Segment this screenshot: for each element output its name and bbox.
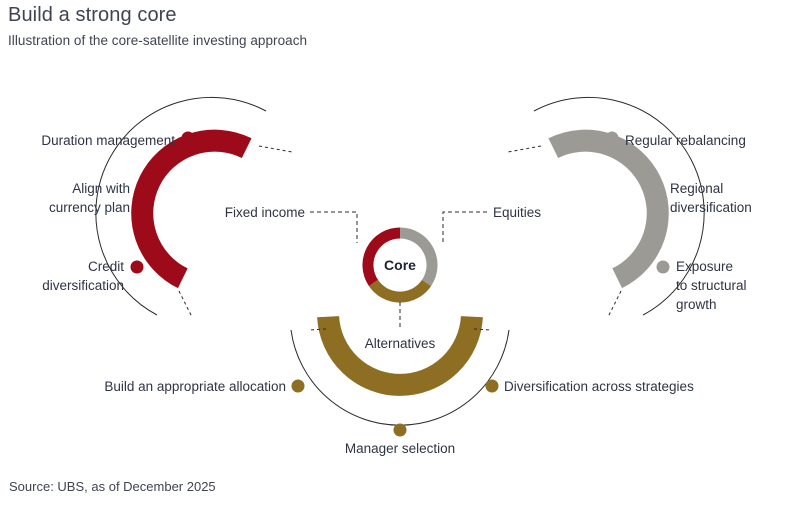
satellite-dot-diversification-strategies[interactable] bbox=[486, 380, 499, 393]
satellite-arc-dash-top-fi bbox=[259, 146, 292, 152]
satellite-label-align-currency-2: currency plan bbox=[49, 200, 130, 215]
connector-equities-line bbox=[443, 212, 487, 243]
satellite-label-regular-rebalancing: Regular rebalancing bbox=[625, 133, 746, 148]
satellite-label-regional-diversification-2: diversification bbox=[670, 200, 752, 215]
satellite-dot-regular-rebalancing[interactable] bbox=[606, 132, 619, 145]
connector-label-fixed-income: Fixed income bbox=[225, 205, 305, 220]
satellite-arc-dash-bottom-eq bbox=[608, 291, 621, 317]
core-donut: Core bbox=[368, 233, 432, 297]
satellite-dot-align-currency[interactable] bbox=[137, 183, 150, 196]
connector-label-alternatives: Alternatives bbox=[365, 336, 436, 351]
satellite-label-exposure-3: growth bbox=[676, 297, 717, 312]
satellite-dot-build-allocation[interactable] bbox=[292, 380, 305, 393]
satellite-dot-regional-diversification[interactable] bbox=[651, 183, 664, 196]
core-segment-alternatives bbox=[374, 283, 427, 297]
source-note: Source: UBS, as of December 2025 bbox=[9, 479, 216, 494]
connector-fixed-income-line bbox=[310, 212, 357, 243]
satellite-dot-manager-selection[interactable] bbox=[394, 424, 407, 437]
satellite-dot-duration-management[interactable] bbox=[182, 132, 195, 145]
satellite-label-manager-selection: Manager selection bbox=[345, 441, 455, 456]
satellite-dot-credit-diversification[interactable] bbox=[131, 261, 144, 274]
satellite-arc-dash-bottom-fi bbox=[179, 291, 192, 317]
connector-label-equities: Equities bbox=[493, 205, 541, 220]
satellite-label-exposure-1: Exposure bbox=[676, 259, 733, 274]
satellite-group-equities: Regular rebalancing Regional diversifica… bbox=[508, 97, 752, 317]
satellite-label-duration-management: Duration management bbox=[41, 133, 175, 148]
satellite-arc-dash-top-eq bbox=[508, 146, 541, 152]
satellite-label-regional-diversification-1: Regional bbox=[670, 181, 723, 196]
satellite-label-credit-diversification-1: Credit bbox=[88, 259, 124, 274]
satellite-label-align-currency-1: Align with bbox=[72, 181, 130, 196]
satellite-label-credit-diversification-2: diversification bbox=[42, 278, 124, 293]
core-satellite-diagram: Core Fixed income Equities Alternatives bbox=[0, 0, 789, 527]
satellite-label-build-allocation: Build an appropriate allocation bbox=[104, 379, 286, 394]
core-label: Core bbox=[384, 257, 416, 273]
connector-lines: Fixed income Equities Alternatives bbox=[225, 205, 542, 351]
satellite-label-exposure-2: to structural bbox=[676, 278, 747, 293]
satellite-dot-exposure-structural-growth[interactable] bbox=[657, 261, 670, 274]
satellite-arc-equities bbox=[553, 141, 657, 279]
satellite-label-diversification-strategies: Diversification across strategies bbox=[504, 379, 694, 394]
infographic-root: Build a strong core Illustration of the … bbox=[0, 0, 789, 527]
